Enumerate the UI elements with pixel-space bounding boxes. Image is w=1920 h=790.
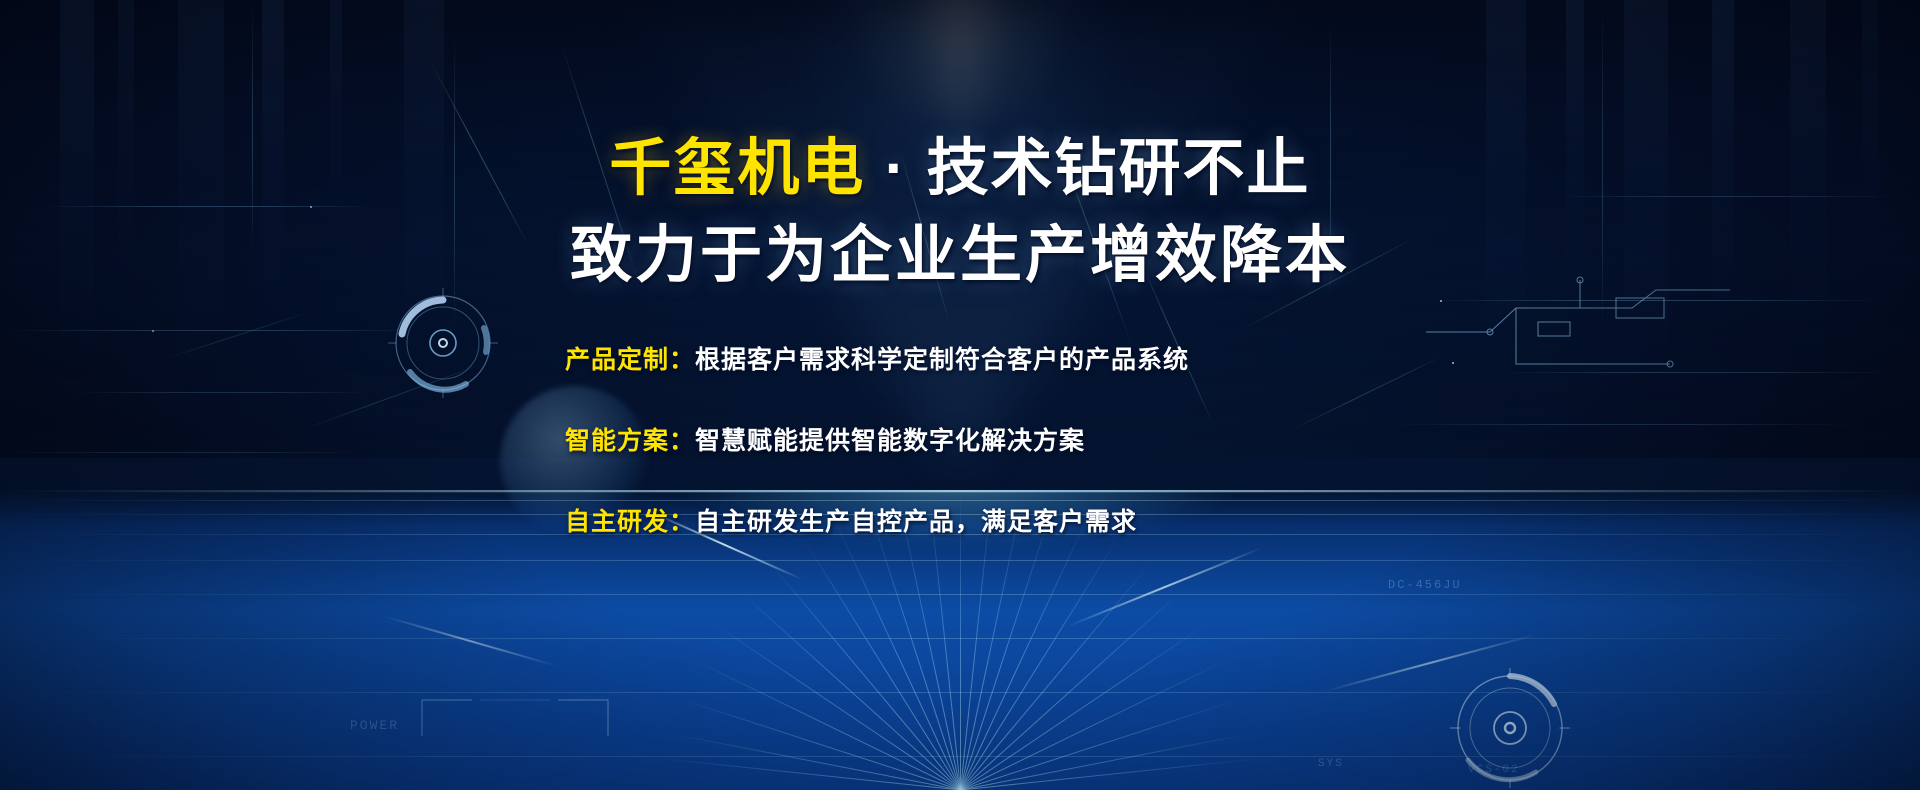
feature-label: 产品定制： [565, 346, 695, 374]
feature-item: 智能方案：智慧赋能提供智能数字化解决方案 [565, 421, 1355, 457]
headline-separator: · [865, 134, 926, 203]
headline-line-2: 致力于为企业生产增效降本 [570, 219, 1350, 292]
feature-text: 智慧赋能提供智能数字化解决方案 [695, 427, 1085, 455]
feature-label: 自主研发： [565, 508, 695, 536]
headline-brand: 千玺机电 [609, 134, 865, 203]
headline-tagline: 技术钻研不止 [927, 134, 1311, 203]
feature-item: 自主研发：自主研发生产自控产品，满足客户需求 [565, 502, 1355, 538]
banner-content: 千玺机电 · 技术钻研不止 致力于为企业生产增效降本 产品定制：根据客户需求科学… [0, 0, 1920, 790]
feature-text: 根据客户需求科学定制符合客户的产品系统 [695, 346, 1189, 374]
feature-text: 自主研发生产自控产品，满足客户需求 [695, 508, 1137, 536]
feature-list: 产品定制：根据客户需求科学定制符合客户的产品系统 智能方案：智慧赋能提供智能数字… [565, 340, 1355, 538]
headline-block: 千玺机电 · 技术钻研不止 致力于为企业生产增效降本 [570, 132, 1350, 292]
feature-label: 智能方案： [565, 427, 695, 455]
feature-item: 产品定制：根据客户需求科学定制符合客户的产品系统 [565, 340, 1355, 376]
headline-line-1: 千玺机电 · 技术钻研不止 [570, 132, 1350, 205]
hero-banner: POWERDC-456JUVCS-02SYS 千玺机电 · 技术钻研不止 致力于… [0, 0, 1920, 790]
